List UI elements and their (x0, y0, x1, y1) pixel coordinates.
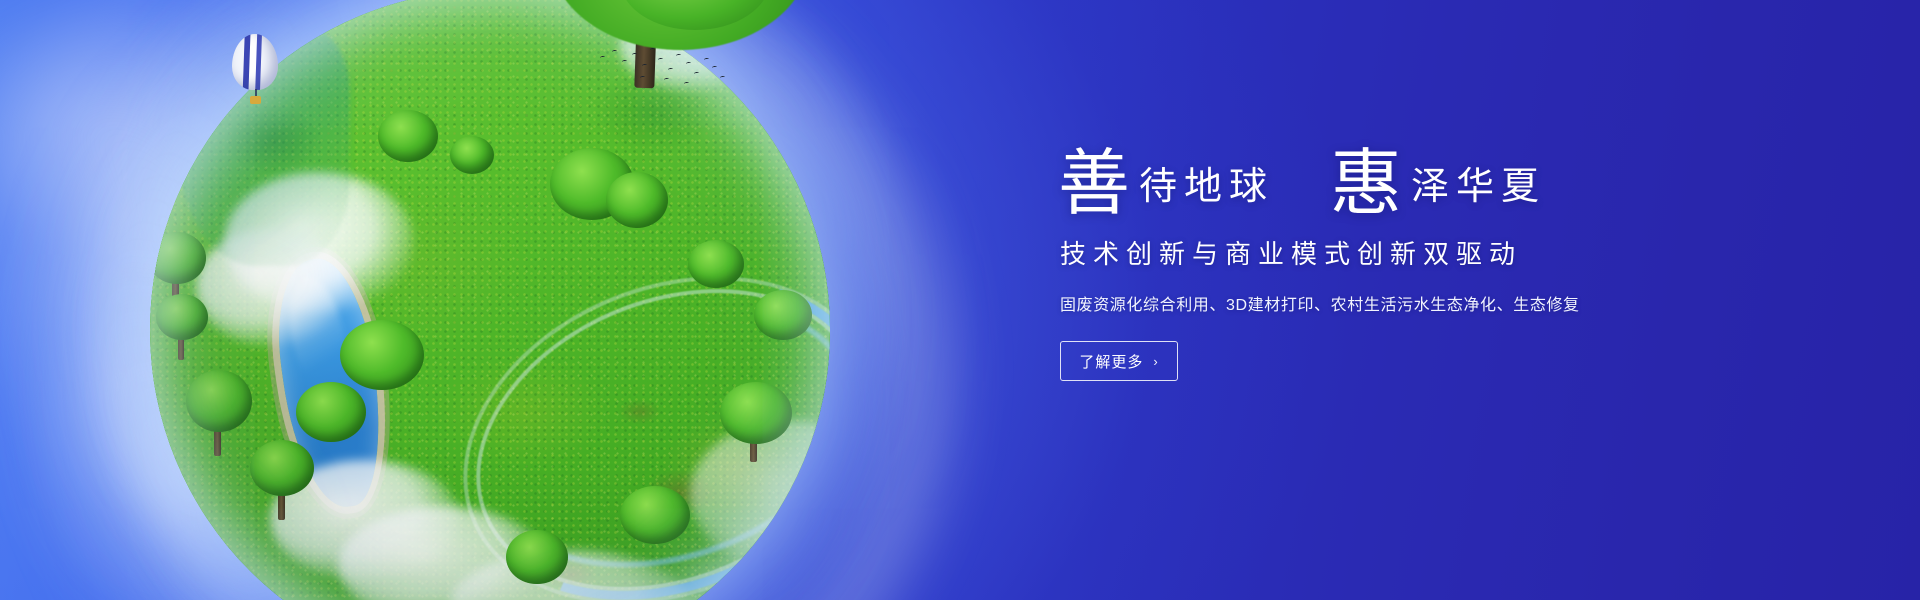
hero-description: 固废资源化综合利用、3D建材打印、农村生活污水生态净化、生态修复 (1060, 291, 1818, 315)
balloon-basket (250, 96, 261, 104)
chevron-right-icon: › (1153, 354, 1158, 369)
page-title: 善 待地球 惠 泽华夏 (1058, 120, 1818, 216)
headline-part2-large: 惠 (1330, 148, 1403, 220)
hero-subtitle: 技术创新与商业模式创新双驱动 (1060, 234, 1818, 271)
hero-content: 善 待地球 惠 泽华夏 技术创新与商业模式创新双驱动 固废资源化综合利用、3D建… (1058, 120, 1818, 381)
hot-air-balloon-icon (232, 34, 280, 108)
balloon-envelope (232, 34, 278, 90)
headline-part1-large: 善 (1058, 148, 1131, 220)
headline-part1-small: 待地球 (1131, 168, 1274, 206)
learn-more-button[interactable]: 了解更多 › (1060, 341, 1178, 381)
hero-banner: 善 待地球 惠 泽华夏 技术创新与商业模式创新双驱动 固废资源化综合利用、3D建… (0, 0, 1920, 600)
learn-more-label: 了解更多 (1079, 351, 1143, 372)
birds-flock-icon (596, 46, 726, 90)
headline-part2-small: 泽华夏 (1403, 168, 1546, 206)
